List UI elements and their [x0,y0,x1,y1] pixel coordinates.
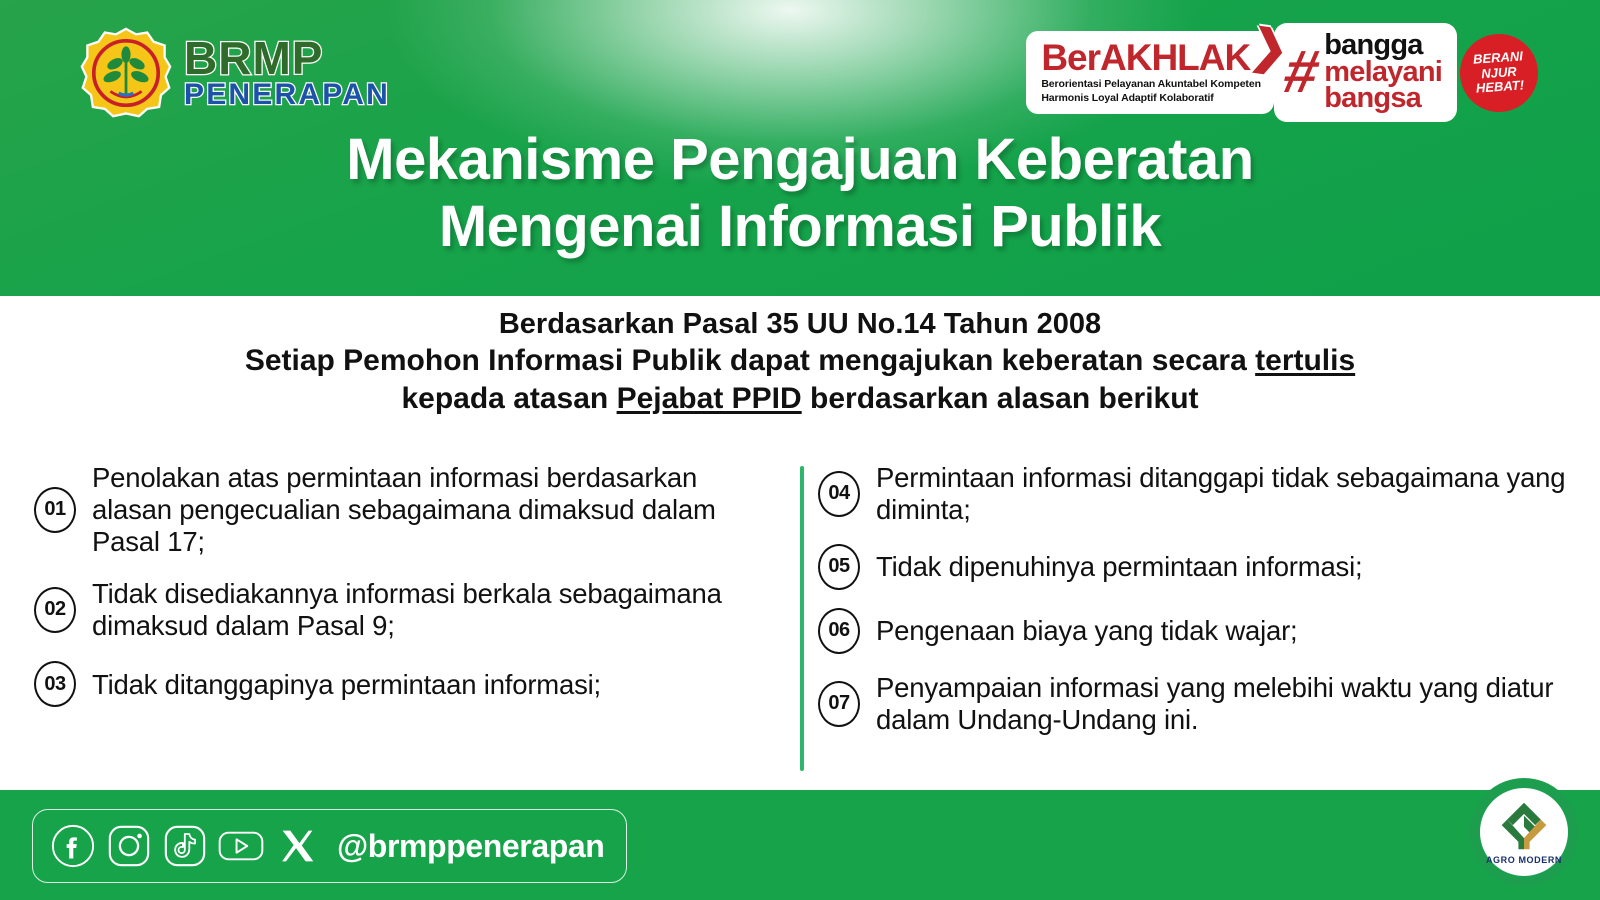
header-banner: BRMP PENERAPAN BerAKHLAK Berorientasi Pe… [0,0,1600,296]
list-item: 04 Permintaan informasi ditanggapi tidak… [818,462,1566,526]
reason-number-badge: 04 [818,471,860,517]
reason-number-badge: 07 [818,681,860,727]
page-title-line2: Mengenai Informasi Publik [0,193,1600,260]
list-item: 05 Tidak dipenuhinya permintaan informas… [818,544,1566,590]
page-title-line1: Mekanisme Pengajuan Keberatan [0,126,1600,193]
reason-text: Permintaan informasi ditanggapi tidak se… [876,462,1566,526]
reason-number-badge: 05 [818,544,860,590]
berani-njur-hebat-badge: BERANI NJUR HEBAT! [1457,31,1540,114]
legal-basis-pejabat-ppid: Pejabat PPID [617,382,802,415]
berakhlak-tagline: Berorientasi Pelayanan Akuntabel Kompete… [1041,78,1261,104]
x-twitter-icon[interactable] [273,822,321,870]
legal-basis-block: Berdasarkan Pasal 35 UU No.14 Tahun 2008… [0,306,1600,417]
ministry-of-agriculture-emblem-icon [80,27,172,119]
youtube-icon[interactable] [217,822,265,870]
bangga-line2: melayani [1324,59,1442,86]
column-divider [800,466,804,771]
list-item: 06 Pengenaan biaya yang tidak wajar; [818,608,1566,654]
legal-basis-line1: Berdasarkan Pasal 35 UU No.14 Tahun 2008 [0,306,1600,342]
list-item: 01 Penolakan atas permintaan informasi b… [34,462,782,558]
page-title: Mekanisme Pengajuan Keberatan Mengenai I… [0,126,1600,261]
berakhlak-prefix: Ber [1041,37,1100,78]
berakhlak-tagline-line1: Berorientasi Pelayanan Akuntabel Kompete… [1041,78,1261,91]
reason-number-badge: 06 [818,608,860,654]
reasons-column-right: 04 Permintaan informasi ditanggapi tidak… [818,462,1566,754]
berakhlak-suffix: AKHLAK [1100,37,1250,78]
reason-text: Tidak ditanggapinya permintaan informasi… [92,669,601,701]
list-item: 03 Tidak ditanggapinya permintaan inform… [34,661,782,707]
legal-basis-line2: Setiap Pemohon Informasi Publik dapat me… [0,342,1600,380]
social-media-bar: @brmppenerapan [32,809,627,883]
bangga-melayani-bangsa-logo: # bangga melayani bangsa [1277,26,1454,119]
bangga-line1: bangga [1324,32,1442,59]
agro-modern-label: AGRO MODERN [1486,855,1562,865]
list-item: 02 Tidak disediakannya informasi berkala… [34,578,782,642]
berakhlak-logo: BerAKHLAK Berorientasi Pelayanan Akuntab… [1029,34,1271,110]
agro-modern-logo: AGRO MODERN [1470,778,1578,886]
bangga-wordmark: bangga melayani bangsa [1324,32,1442,112]
instagram-icon[interactable] [105,822,153,870]
legal-basis-line3: kepada atasan Pejabat PPID berdasarkan a… [0,380,1600,418]
reason-text: Penyampaian informasi yang melebihi wakt… [876,672,1566,736]
berakhlak-wordmark: BerAKHLAK [1041,39,1261,76]
brmp-wordmark-bottom: PENERAPAN [184,81,390,109]
reason-text: Tidak disediakannya informasi berkala se… [92,578,782,642]
legal-basis-line3-post: berdasarkan alasan berikut [802,382,1199,415]
reason-text: Penolakan atas permintaan informasi berd… [92,462,782,558]
tiktok-icon[interactable] [161,822,209,870]
brmp-logo: BRMP PENERAPAN [80,27,390,119]
reason-number-badge: 03 [34,661,76,707]
reasons-section: 01 Penolakan atas permintaan informasi b… [0,462,1600,777]
reason-text: Pengenaan biaya yang tidak wajar; [876,615,1297,647]
reason-number-badge: 01 [34,487,76,533]
list-item: 07 Penyampaian informasi yang melebihi w… [818,672,1566,736]
brmp-wordmark-top: BRMP [184,37,390,79]
reason-text: Tidak dipenuhinya permintaan informasi; [876,551,1362,583]
social-handle: @brmppenerapan [337,828,604,865]
berani-line3: HEBAT! [1475,78,1524,96]
legal-basis-line3-pre: kepada atasan [401,382,616,415]
reasons-column-left: 01 Penolakan atas permintaan informasi b… [34,462,782,727]
campaign-logo-cluster: BerAKHLAK Berorientasi Pelayanan Akuntab… [1029,26,1538,119]
agro-modern-mark-icon [1494,799,1554,853]
bangga-line3: bangsa [1324,85,1442,112]
legal-basis-line2-text: Setiap Pemohon Informasi Publik dapat me… [245,344,1255,377]
footer-bar: @brmppenerapan AGRO MODERN [0,790,1600,900]
reason-number-badge: 02 [34,587,76,633]
legal-basis-tertulis: tertulis [1255,344,1355,377]
berakhlak-tagline-line2: Harmonis Loyal Adaptif Kolaboratif [1041,92,1261,105]
facebook-icon[interactable] [49,822,97,870]
